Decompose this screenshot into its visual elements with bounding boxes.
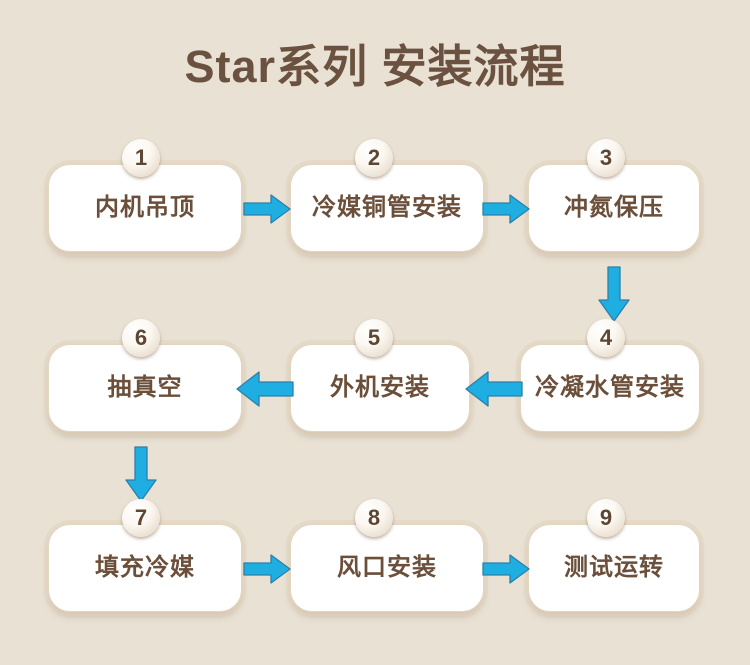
flow-node-4[interactable]: 冷凝水管安装 bbox=[520, 344, 700, 432]
flow-node-3-label: 冲氮保压 bbox=[564, 196, 664, 220]
connector-arrow-2-to-3 bbox=[482, 194, 530, 224]
connector-arrow-8-to-9 bbox=[482, 554, 530, 584]
connector-arrow-7-to-8 bbox=[243, 554, 291, 584]
flow-node-9[interactable]: 测试运转 bbox=[528, 524, 700, 612]
flow-node-1-label: 内机吊顶 bbox=[95, 196, 195, 220]
connector-arrow-1-to-2 bbox=[243, 194, 291, 224]
flow-node-2[interactable]: 冷媒铜管安装 bbox=[290, 164, 484, 252]
flow-node-9-badge: 9 bbox=[587, 499, 625, 537]
flow-node-6[interactable]: 抽真空 bbox=[48, 344, 242, 432]
flow-node-8-label: 风口安装 bbox=[337, 556, 437, 580]
flow-node-6-number: 6 bbox=[135, 327, 147, 349]
flow-node-4-number: 4 bbox=[600, 327, 612, 349]
flow-node-4-badge: 4 bbox=[587, 319, 625, 357]
flow-node-6-badge: 6 bbox=[122, 319, 160, 357]
flow-node-8-badge: 8 bbox=[355, 499, 393, 537]
flow-node-4-label: 冷凝水管安装 bbox=[535, 376, 685, 400]
flow-node-1-badge: 1 bbox=[122, 139, 160, 177]
connector-arrow-6-to-7 bbox=[125, 446, 157, 502]
flow-node-9-number: 9 bbox=[600, 507, 612, 529]
flow-node-7-label: 填充冷媒 bbox=[95, 556, 195, 580]
flow-node-5-label: 外机安装 bbox=[330, 376, 430, 400]
flow-node-7[interactable]: 填充冷媒 bbox=[48, 524, 242, 612]
flow-node-7-badge: 7 bbox=[122, 499, 160, 537]
connector-arrow-3-to-4 bbox=[598, 266, 630, 322]
connector-arrow-5-to-6 bbox=[236, 371, 294, 407]
flow-node-3-number: 3 bbox=[600, 147, 612, 169]
flow-node-8[interactable]: 风口安装 bbox=[290, 524, 484, 612]
flow-node-5-number: 5 bbox=[368, 327, 380, 349]
flow-node-9-label: 测试运转 bbox=[564, 556, 664, 580]
flow-node-1[interactable]: 内机吊顶 bbox=[48, 164, 242, 252]
flow-node-2-number: 2 bbox=[368, 147, 380, 169]
flow-node-1-number: 1 bbox=[135, 147, 147, 169]
flow-node-2-badge: 2 bbox=[355, 139, 393, 177]
flow-node-3[interactable]: 冲氮保压 bbox=[528, 164, 700, 252]
flow-node-5-badge: 5 bbox=[355, 319, 393, 357]
flow-node-2-label: 冷媒铜管安装 bbox=[312, 196, 462, 220]
connector-arrow-4-to-5 bbox=[465, 371, 523, 407]
page-title: Star系列 安装流程 bbox=[0, 30, 750, 95]
flow-node-7-number: 7 bbox=[135, 507, 147, 529]
flow-node-6-label: 抽真空 bbox=[108, 376, 183, 400]
flow-node-3-badge: 3 bbox=[587, 139, 625, 177]
flow-node-5[interactable]: 外机安装 bbox=[290, 344, 470, 432]
flowchart-canvas: Star系列 安装流程 内机吊顶 1 冷媒铜管安装 2 冲氮保压 3 抽真空 bbox=[0, 0, 750, 665]
flow-node-8-number: 8 bbox=[368, 507, 380, 529]
